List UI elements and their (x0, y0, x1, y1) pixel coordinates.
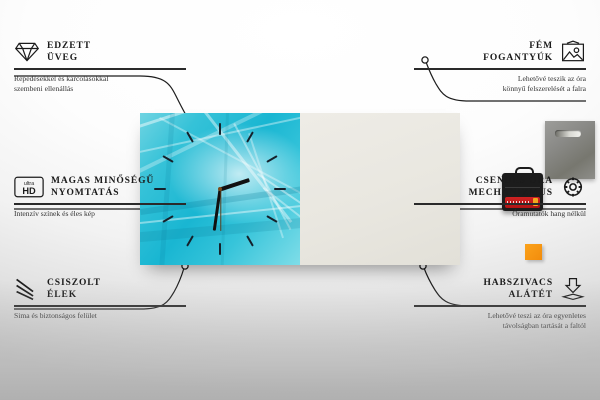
feature-metal-handles: FÉM FOGANTYÚK Lehetővé teszik az óra kön… (414, 40, 586, 94)
diamond-icon (14, 40, 40, 64)
divider (414, 68, 586, 70)
wall-hanger-icon (560, 40, 586, 64)
product-photo (140, 113, 460, 265)
infographic-canvas: EDZETT ÜVEG Repedésekkel és karcolásokka… (0, 0, 600, 400)
gear-icon (560, 175, 586, 199)
clock-hand-second (220, 189, 221, 231)
clock-tick (246, 235, 254, 246)
feature-title: FÉM FOGANTYÚK (483, 40, 553, 64)
feature-description: Repedésekkel és karcolásokkal szembeni e… (14, 74, 186, 94)
divider (14, 68, 186, 70)
feature-title: HABSZIVACS ALÁTÉT (483, 277, 553, 301)
feature-title: EDZETT ÜVEG (47, 40, 91, 64)
clock-tick (274, 188, 286, 190)
feature-silent-mechanism: CSENDES ÓRA MECHANIZMUS Óramutatók hang … (414, 175, 586, 219)
feature-description: Óramutatók hang nélkül (414, 209, 586, 219)
feature-foam-pad: HABSZIVACS ALÁTÉT Lehetővé teszi az óra … (414, 277, 586, 331)
feature-high-quality-print: ultra HD MAGAS MINŐSÉGŰ NYOMTATÁS Intenz… (14, 175, 186, 219)
divider (14, 305, 186, 307)
metal-hanger-plate (545, 121, 595, 179)
feature-description: Sima és biztonságos felület (14, 311, 186, 321)
svg-text:HD: HD (22, 186, 36, 196)
feature-title: CSISZOLT ÉLEK (47, 277, 101, 301)
diagonal-lines-icon (14, 277, 40, 301)
feature-description: Intenzív színek és éles kép (14, 209, 186, 219)
feature-title: MAGAS MINŐSÉGŰ NYOMTATÁS (51, 175, 154, 199)
clock-tick (219, 243, 221, 255)
down-arrow-pad-icon (560, 277, 586, 301)
hanger-keyhole-slot (555, 130, 581, 137)
feature-polished-edges: CSISZOLT ÉLEK Sima és biztonságos felüle… (14, 277, 186, 321)
clock-center-hub (218, 187, 222, 191)
feature-tempered-glass: EDZETT ÜVEG Repedésekkel és karcolásokka… (14, 40, 186, 94)
feature-description: Lehetővé teszi az óra egyenletes távolsá… (414, 311, 586, 331)
clock-tick (219, 123, 221, 135)
feature-description: Lehetővé teszik az óra könnyű felszerelé… (414, 74, 586, 94)
clock-tick (266, 155, 277, 163)
divider (414, 305, 586, 307)
foam-pad (525, 244, 542, 260)
ultra-hd-icon: ultra HD (14, 175, 44, 199)
feature-title: CSENDES ÓRA MECHANIZMUS (469, 175, 553, 199)
divider (414, 203, 586, 205)
divider (14, 203, 186, 205)
